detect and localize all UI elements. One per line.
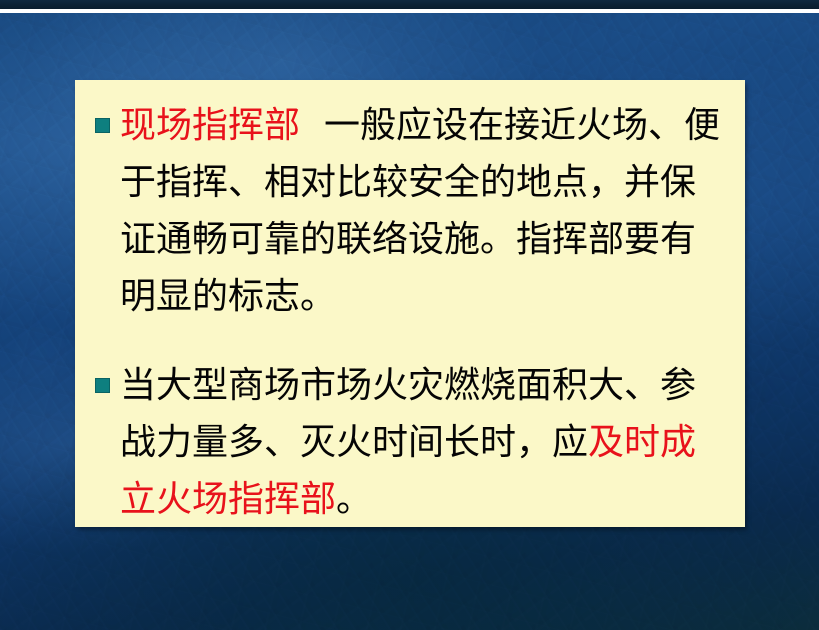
bullet-item-2-text: 当大型商场市场火灾燃烧面积大、参战力量多、灭火时间长时，应及时成立火场指挥部。 — [120, 357, 729, 528]
bullet-item-2: 当大型商场市场火灾燃烧面积大、参战力量多、灭火时间长时，应及时成立火场指挥部。 — [85, 357, 729, 528]
slide-root: 现场指挥部一般应设在接近火场、便于指挥、相对比较安全的地点，并保证通畅可靠的联络… — [0, 0, 819, 630]
bullet-1-segment-1: 现场指挥部 — [120, 105, 300, 146]
content-panel: 现场指挥部一般应设在接近火场、便于指挥、相对比较安全的地点，并保证通畅可靠的联络… — [75, 80, 745, 527]
top-border-strip — [0, 0, 819, 9]
square-bullet-icon — [95, 118, 110, 133]
bullet-item-1-text: 现场指挥部一般应设在接近火场、便于指挥、相对比较安全的地点，并保证通畅可靠的联络… — [120, 97, 729, 325]
square-bullet-icon — [95, 378, 110, 393]
bullet-2-segment-3: 。 — [336, 479, 372, 520]
top-white-gap — [0, 9, 819, 13]
bullet-item-1: 现场指挥部一般应设在接近火场、便于指挥、相对比较安全的地点，并保证通畅可靠的联络… — [85, 97, 729, 325]
